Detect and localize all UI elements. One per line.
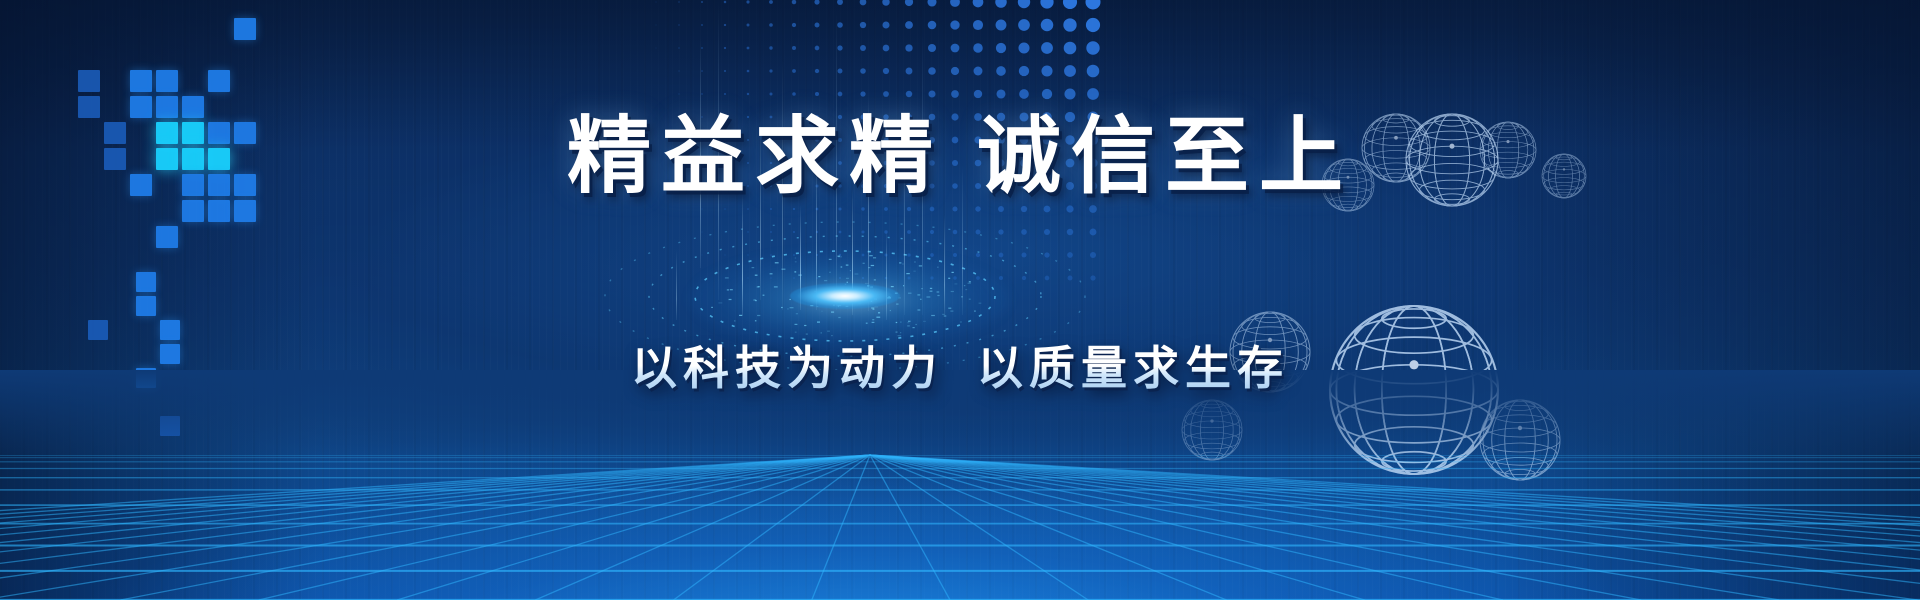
grid-radial-line [870,455,1641,600]
mosaic-square [234,18,256,40]
core-light [790,283,900,309]
grid-radial-line [121,455,870,600]
floor-glow [0,410,1920,600]
grid-radial-line [0,455,870,600]
grid-radial-line [0,455,870,600]
grid-radial-line [0,455,870,600]
grid-radial-line [870,455,1088,600]
grid-radial-line [870,455,1503,600]
grid-radial-line [870,455,1920,600]
grid-radial-line [870,455,1920,600]
mosaic-pixel-cluster-bottom-left [0,0,340,520]
grid-radial-line [535,455,870,600]
light-beam [676,250,677,320]
grid-radial-line [0,455,870,600]
floor-grid-lines [0,370,1920,600]
subline-part-2: 以质量求生存 [977,341,1289,395]
grid-radial-line [870,455,1920,600]
mosaic-square [130,70,152,92]
grid-radial-line [870,455,1920,600]
grid-radial-line [0,455,870,600]
grid-radial-line [0,455,870,600]
grid-radial-line [870,455,1920,600]
grid-radial-line [870,455,950,600]
grid-radial-line [397,455,870,600]
grid-radial-line [0,455,870,600]
grid-radial-line [812,455,870,600]
grid-radial-line [0,455,870,600]
mosaic-square [182,200,204,222]
grid-radial-line [870,455,1918,600]
mosaic-square [78,70,100,92]
wireframe-globe-cluster [1100,0,1920,600]
mosaic-square [234,200,256,222]
mosaic-square [208,200,230,222]
perspective-grid-floor [0,370,1920,600]
mosaic-square [136,272,156,292]
grid-radial-line [870,455,1920,600]
mosaic-square [156,226,178,248]
mosaic-square [160,320,180,340]
page-subtitle: 以科技为动力以质量求生存 [0,340,1920,396]
headline-part-2: 诚信至上 [977,106,1353,205]
grid-radial-line [870,455,1365,600]
mosaic-square [136,296,156,316]
grid-radial-line [0,455,870,600]
grid-radial-line [259,455,870,600]
mosaic-square [156,70,178,92]
page-title: 精益求精诚信至上 [0,110,1920,202]
right-vignette [1500,0,1920,600]
grid-radial-line [870,455,1779,600]
globe-icon [1182,400,1242,460]
headline-part-1: 精益求精 [567,106,943,205]
mosaic-square [88,320,108,340]
banner-stage: 精益求精诚信至上 以科技为动力以质量求生存 [0,0,1920,600]
globe-icon [1480,400,1560,480]
mosaic-square [160,416,180,436]
grid-radial-line [0,455,870,600]
left-vignette [0,0,320,600]
grid-radial-line [0,455,870,600]
grid-radial-line [870,455,1920,600]
grid-radial-line [870,455,1920,600]
grid-radial-line [674,455,871,600]
grid-radial-line [870,455,1227,600]
mosaic-square [208,70,230,92]
grid-radial-line [870,455,1920,600]
subline-part-1: 以科技为动力 [631,341,943,395]
grid-radial-line [870,455,1920,600]
